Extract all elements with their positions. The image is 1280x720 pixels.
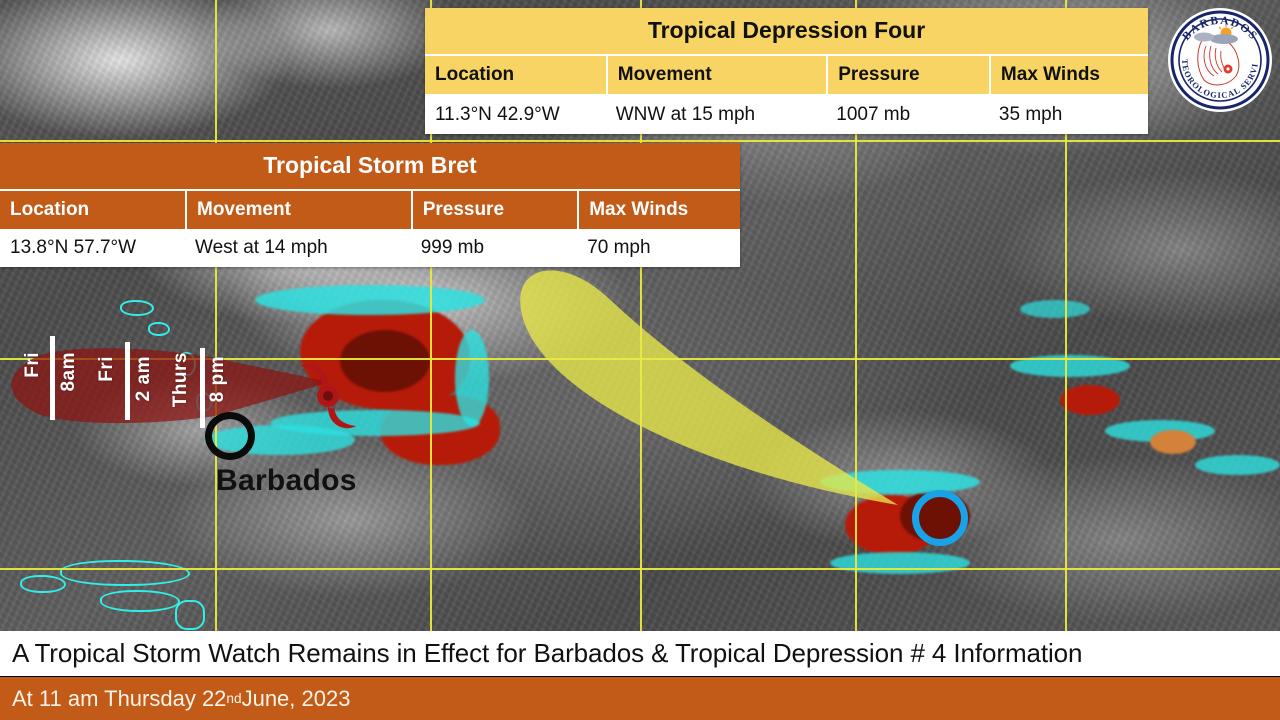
headline-text: A Tropical Storm Watch Remains in Effect… [12,638,1082,669]
barbados-met-services-logo: BARBADOS METEOROLOGICAL SERVICES [1166,6,1274,114]
timestamp-prefix: At 11 am Thursday 22 [12,686,226,712]
forecast-tick [125,342,130,420]
value-location: 13.8°N 57.7°W [0,229,185,267]
gridline-horizontal [0,568,1280,570]
forecast-label-thurs-8pm-day: Thurs [170,352,192,407]
column-header-max-winds: Max Winds [577,191,740,229]
column-header-max-winds: Max Winds [989,56,1148,94]
barbados-label: Barbados [216,464,357,498]
headline-banner: A Tropical Storm Watch Remains in Effect… [0,631,1280,676]
panel-tropical-depression-four: Tropical Depression Four Location Moveme… [425,8,1148,134]
cloud-icon [1210,34,1238,44]
convection-cell [1195,455,1280,475]
convection-cell [455,330,489,426]
panel-value-row: 11.3°N 42.9°W WNW at 15 mph 1007 mb 35 m… [425,94,1148,134]
value-location: 11.3°N 42.9°W [425,96,606,134]
coastline-outline [20,575,66,593]
forecast-label-thurs-8pm-time: 8 pm [207,356,229,402]
value-pressure: 999 mb [411,229,578,267]
column-header-movement: Movement [185,191,411,229]
forecast-label-fri-8am-time: 8am [58,352,80,392]
forecast-tick [200,348,205,428]
convection-cell [1150,430,1196,454]
convection-cell [1060,385,1120,415]
coastline-outline [175,600,205,630]
coastline-outline [60,560,190,586]
timestamp-ordinal-suffix: nd [226,691,241,706]
panel-header-row: Location Movement Pressure Max Winds [0,191,740,229]
panel-tropical-storm-bret: Tropical Storm Bret Location Movement Pr… [0,143,740,267]
gridline-horizontal [0,140,1280,142]
column-header-movement: Movement [606,56,827,94]
convection-cell [1020,300,1090,318]
forecast-label-fri-2am-time: 2 am [133,356,155,401]
coastline-outline [100,590,180,612]
value-pressure: 1007 mb [826,96,989,134]
cloud-icon [1194,33,1214,42]
value-max-winds: 35 mph [989,96,1148,134]
panel-title: Tropical Storm Bret [0,143,740,191]
column-header-pressure: Pressure [826,56,989,94]
forecast-tick [50,336,55,420]
convection-cell [255,285,485,315]
forecast-label-fri-8am-day: Fri [22,352,44,378]
value-movement: WNW at 15 mph [606,96,827,134]
coastline-outline [120,300,154,316]
timestamp-banner: At 11 am Thursday 22nd June, 2023 [0,677,1280,720]
column-header-location: Location [425,56,606,94]
timestamp-suffix: June, 2023 [242,686,351,712]
convection-cell [820,470,980,494]
td-four-center-marker [912,490,968,546]
panel-header-row: Location Movement Pressure Max Winds [425,56,1148,94]
column-header-pressure: Pressure [411,191,578,229]
gridline-vertical [215,0,217,632]
value-movement: West at 14 mph [185,229,411,267]
panel-title: Tropical Depression Four [425,8,1148,56]
hurricane-symbol-icon [292,358,364,434]
convection-cell [830,552,970,574]
panel-value-row: 13.8°N 57.7°W West at 14 mph 999 mb 70 m… [0,229,740,267]
weather-graphic: Fri 8am Fri 2 am Thurs 8 pm Barbados Tro… [0,0,1280,720]
barbados-location-marker [205,412,255,460]
value-max-winds: 70 mph [577,229,740,267]
forecast-label-fri-2am-day: Fri [96,356,118,382]
column-header-location: Location [0,191,185,229]
